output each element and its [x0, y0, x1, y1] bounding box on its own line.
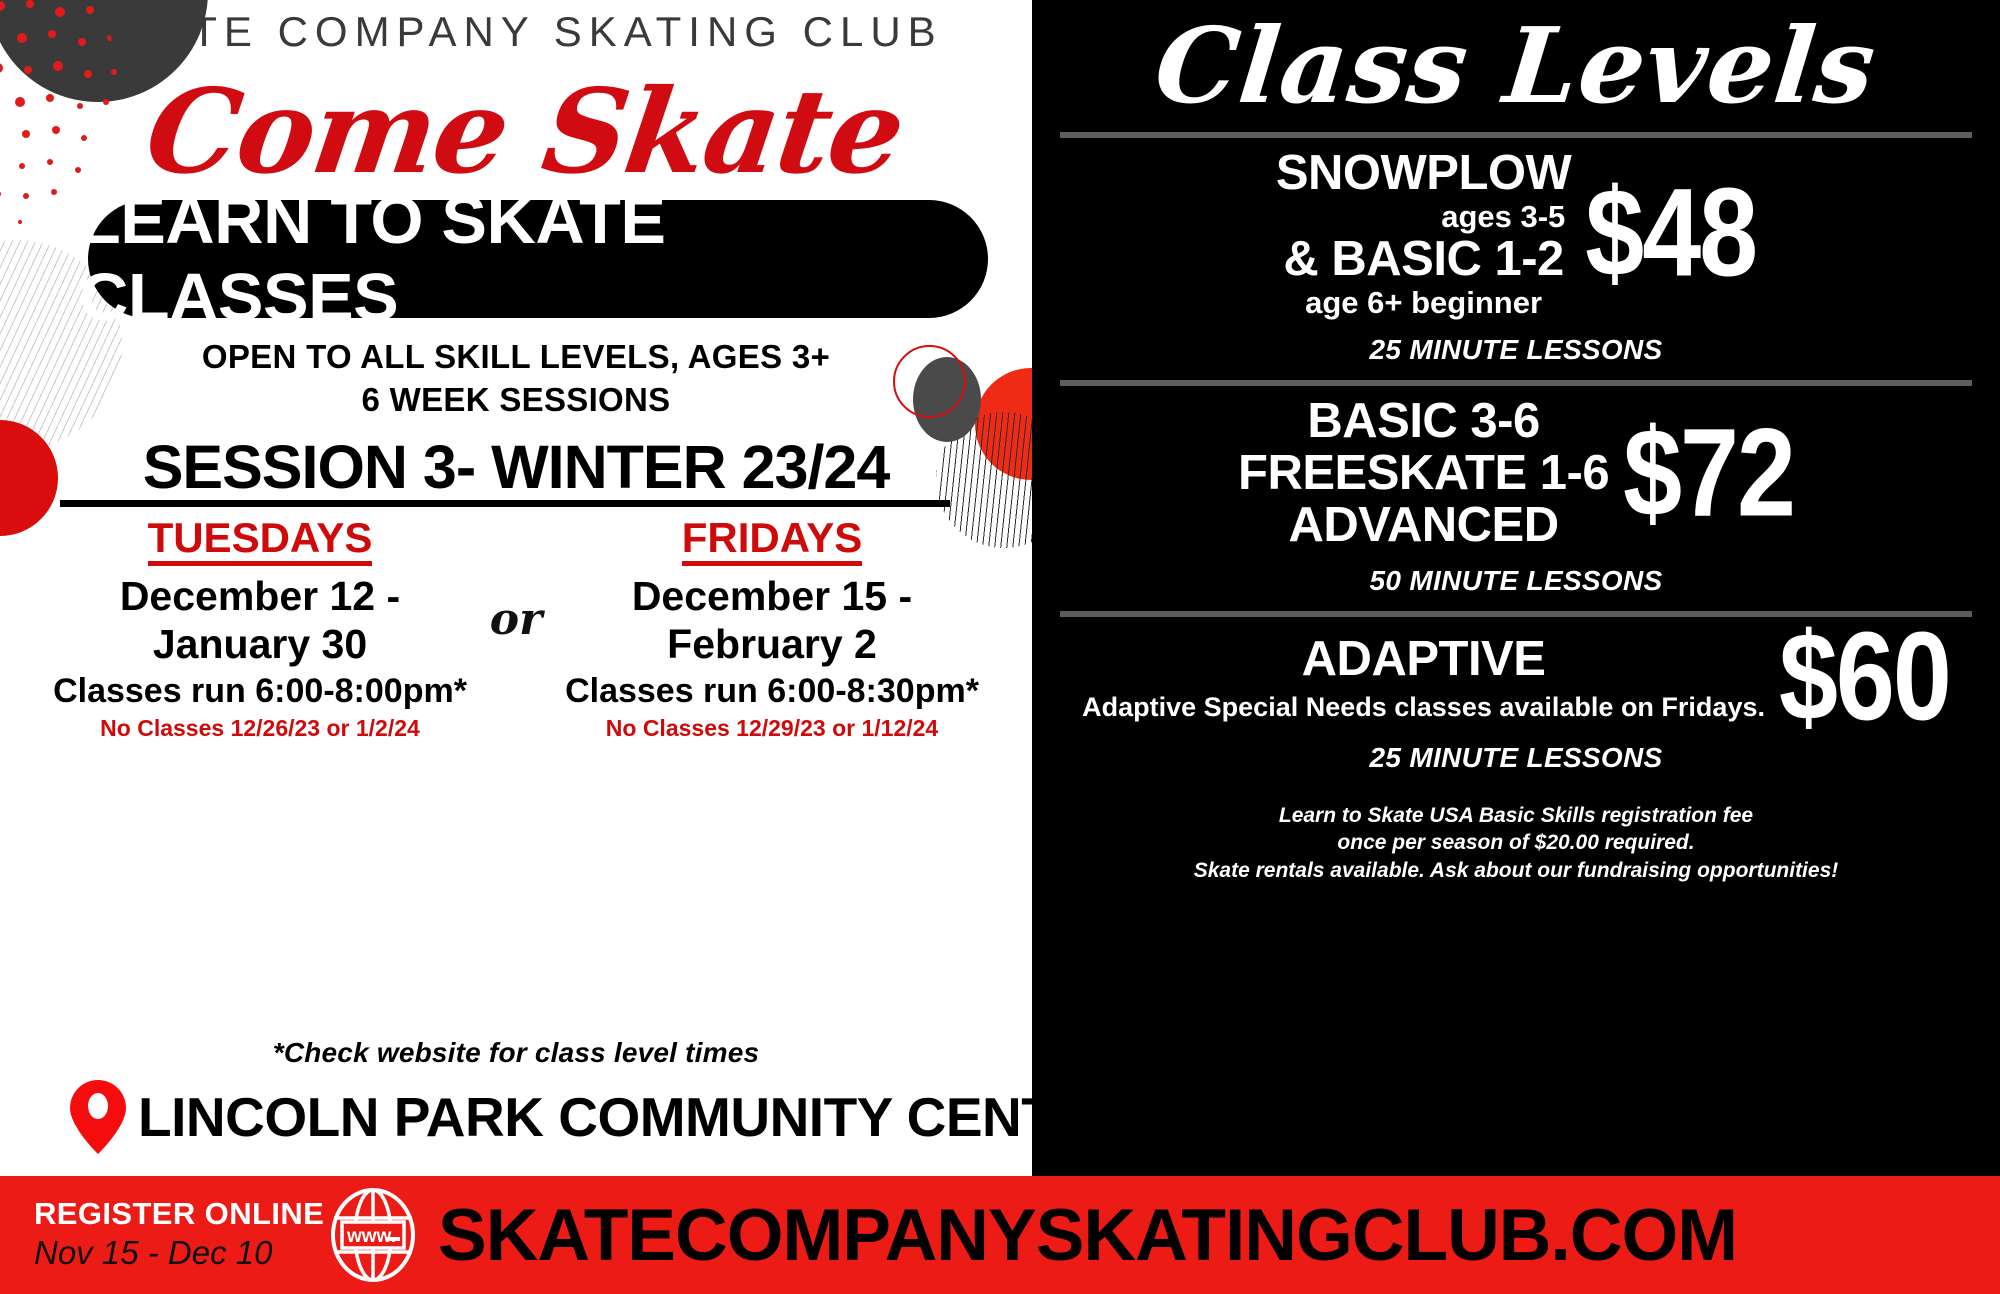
schedule-footnote: *Check website for class level times [0, 1037, 1032, 1069]
level-names: BASIC 3-6 FREESKATE 1-6 ADVANCED [1238, 396, 1623, 552]
class-levels-panel: Class Levels SNOWPLOW ages 3-5 & BASIC 1… [1032, 0, 2000, 1176]
poster-root: SKATE COMPANY SKATING CLUB Come Skate Wi… [0, 0, 2000, 1294]
level-name-line-2: & BASIC 1-2 [1276, 234, 1571, 286]
level-names: ADAPTIVE Adaptive Special Needs classes … [1082, 634, 1779, 722]
schedule-or-separator: or [480, 516, 552, 645]
level-row: SNOWPLOW ages 3-5 & BASIC 1-2 age 6+ beg… [1048, 148, 1984, 320]
register-dates: Nov 15 - Dec 10 [34, 1233, 330, 1273]
level-block-adaptive: ADAPTIVE Adaptive Special Needs classes … [1048, 617, 1984, 782]
schedule-dates: December 15 - February 2 [552, 572, 992, 669]
subline-skill-levels: OPEN TO ALL SKILL LEVELS, AGES 3+ [0, 338, 1032, 376]
website-url[interactable]: SKATECOMPANYSKATINGCLUB.COM [438, 1194, 2000, 1277]
schedule-times: Classes run 6:00-8:00pm* [40, 671, 480, 712]
globe-www-icon: www. [330, 1188, 416, 1282]
schedule-times: Classes run 6:00-8:30pm* [552, 671, 992, 712]
level-block-snowplow: SNOWPLOW ages 3-5 & BASIC 1-2 age 6+ beg… [1048, 138, 1984, 374]
session-title: SESSION 3- WINTER 23/24 [0, 432, 1032, 502]
level-row: BASIC 3-6 FREESKATE 1-6 ADVANCED $72 [1048, 396, 1984, 552]
subline-session-length: 6 WEEK SESSIONS [0, 381, 1032, 419]
schedule-column-tuesdays: TUESDAYS December 12 - January 30 Classe… [40, 516, 480, 742]
level-age-line-1: ages 3-5 [1276, 200, 1571, 234]
level-block-basic-freeskate-advanced: BASIC 3-6 FREESKATE 1-6 ADVANCED $72 50 … [1048, 386, 1984, 606]
schedule-no-classes: No Classes 12/29/23 or 1/12/24 [552, 715, 992, 743]
schedule-dates: December 12 - January 30 [40, 572, 480, 669]
club-name: SKATE COMPANY SKATING CLUB [0, 8, 1032, 56]
schedule-no-classes: No Classes 12/26/23 or 1/2/24 [40, 715, 480, 743]
class-levels-title: Class Levels [1041, 0, 1990, 126]
level-row: ADAPTIVE Adaptive Special Needs classes … [1048, 627, 1984, 728]
learn-to-skate-banner: LEARN TO SKATE CLASSES [88, 200, 988, 318]
left-content-panel: SKATE COMPANY SKATING CLUB Come Skate Wi… [0, 0, 1032, 1294]
fine-print-line-3: Skate rentals available. Ask about our f… [1058, 857, 1974, 884]
level-name-line-2: FREESKATE 1-6 [1238, 448, 1609, 500]
level-names: SNOWPLOW ages 3-5 & BASIC 1-2 age 6+ beg… [1276, 148, 1585, 320]
schedule-column-fridays: FRIDAYS December 15 - February 2 Classes… [552, 516, 992, 742]
map-pin-icon [70, 1080, 126, 1154]
session-title-underline [60, 500, 950, 507]
register-bar: REGISTER ONLINE Nov 15 - Dec 10 www. SKA… [0, 1176, 2000, 1294]
register-block: REGISTER ONLINE Nov 15 - Dec 10 [0, 1197, 330, 1273]
level-name-line-1: ADAPTIVE [1082, 634, 1765, 686]
level-description: Adaptive Special Needs classes available… [1082, 692, 1765, 722]
level-name-line-1: SNOWPLOW [1276, 148, 1571, 200]
venue-row: LINCOLN PARK COMMUNITY CENTER [70, 1080, 1000, 1154]
schedule-columns: TUESDAYS December 12 - January 30 Classe… [40, 516, 992, 742]
level-lesson-length: 25 MINUTE LESSONS [1048, 742, 1984, 774]
fine-print-line-1: Learn to Skate USA Basic Skills registra… [1058, 802, 1974, 829]
globe-www-text: www. [346, 1226, 396, 1247]
level-name-line-3: ADVANCED [1238, 500, 1609, 552]
level-price: $60 [1779, 618, 1950, 737]
fine-print-line-2: once per season of $20.00 required. [1058, 829, 1974, 856]
register-online-label: REGISTER ONLINE [34, 1197, 330, 1231]
level-price: $72 [1623, 414, 1794, 533]
learn-to-skate-banner-label: LEARN TO SKATE CLASSES [79, 182, 997, 336]
level-age-line-2: age 6+ beginner [1276, 286, 1571, 320]
schedule-day-label: FRIDAYS [682, 516, 863, 566]
fine-print: Learn to Skate USA Basic Skills registra… [1048, 802, 1984, 884]
level-price: $48 [1585, 174, 1756, 293]
schedule-day-label: TUESDAYS [148, 516, 373, 566]
venue-name: LINCOLN PARK COMMUNITY CENTER [138, 1085, 1032, 1149]
level-lesson-length: 50 MINUTE LESSONS [1048, 565, 1984, 597]
level-lesson-length: 25 MINUTE LESSONS [1048, 334, 1984, 366]
level-name-line-1: BASIC 3-6 [1238, 396, 1609, 448]
